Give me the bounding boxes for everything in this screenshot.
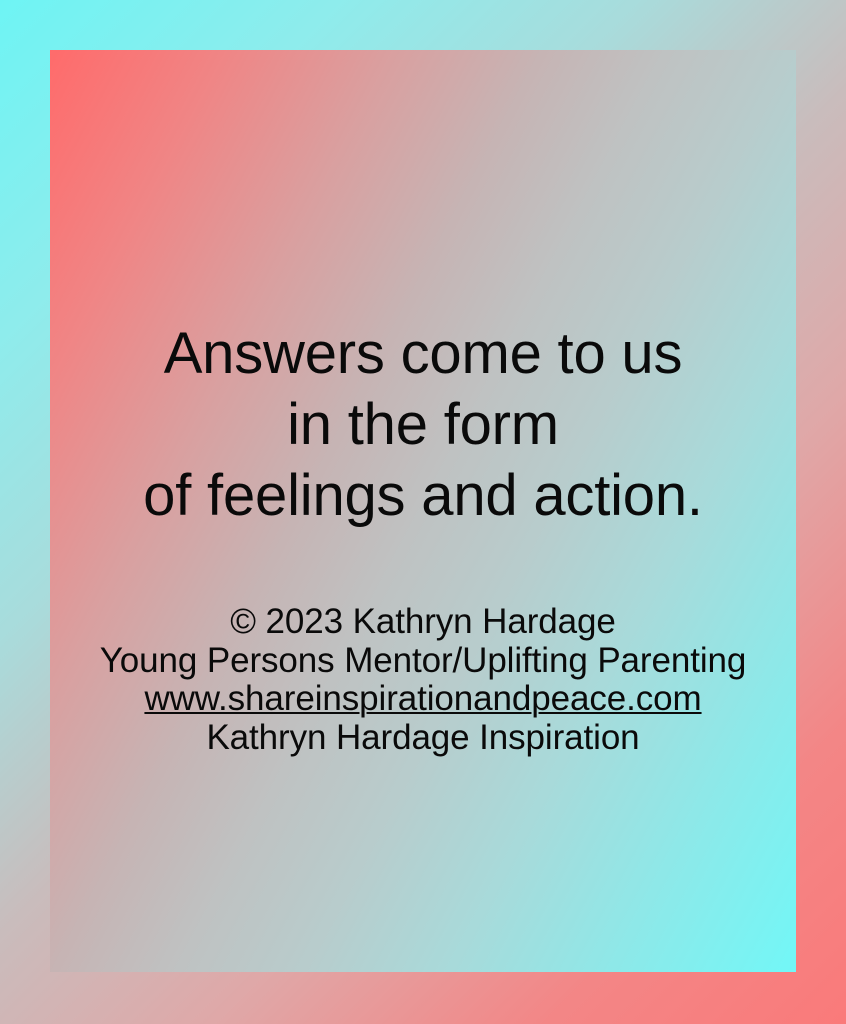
inspirational-quote-card: Answers come to us in the form of feelin… (0, 0, 846, 1024)
quote-line-3: of feelings and action. (50, 460, 796, 531)
quote-text: Answers come to us in the form of feelin… (50, 318, 796, 531)
copyright-line: © 2023 Kathryn Hardage (50, 603, 796, 642)
role-line: Young Persons Mentor/Uplifting Parenting (50, 642, 796, 681)
attribution-text: © 2023 Kathryn Hardage Young Persons Men… (50, 603, 796, 757)
quote-line-2: in the form (50, 389, 796, 460)
brand-line: Kathryn Hardage Inspiration (50, 719, 796, 758)
website-link[interactable]: www.shareinspirationandpeace.com (50, 680, 796, 719)
quote-line-1: Answers come to us (50, 318, 796, 389)
quote-panel: Answers come to us in the form of feelin… (50, 50, 796, 972)
